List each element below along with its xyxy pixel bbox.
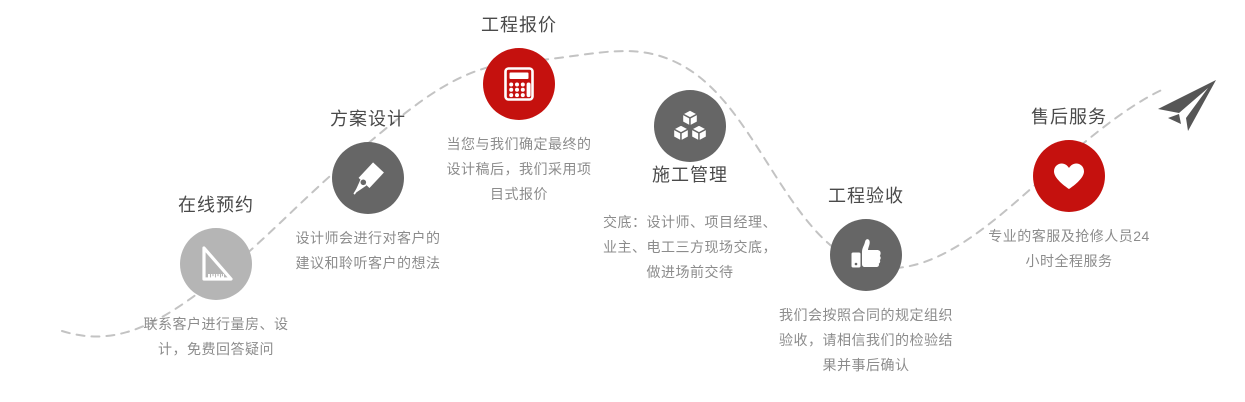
set-square-ruler-icon: [195, 243, 237, 285]
step-5-title: 工程验收: [776, 183, 956, 209]
step-2-icon-circle[interactable]: [332, 142, 404, 214]
thumbs-up-icon: [845, 234, 887, 276]
step-3-description: 当您与我们确定最终的设计稿后，我们采用项目式报价: [445, 132, 593, 207]
process-step-4[interactable]: 施工管理 交底：设计师、项目经理、业主、电工三方现场交底，做进场前交待: [600, 90, 780, 285]
step-4-title: 施工管理: [600, 162, 780, 188]
step-6-title: 售后服务: [986, 104, 1152, 130]
step-1-description: 联系客户进行量房、设计，免费回答疑问: [138, 312, 294, 362]
step-6-icon-circle[interactable]: [1033, 140, 1105, 212]
calculator-icon: [498, 63, 540, 105]
process-flow-infographic: 在线预约 联系客户进行量房、设计，免费回答疑问 方案设计: [0, 0, 1245, 402]
paper-plane-icon: [1148, 78, 1220, 134]
step-5-icon-circle[interactable]: [830, 219, 902, 291]
step-4-icon-circle[interactable]: [654, 90, 726, 162]
stacked-boxes-icon: [669, 105, 711, 147]
step-6-description: 专业的客服及抢修人员24小时全程服务: [986, 224, 1152, 274]
step-1-title: 在线预约: [138, 192, 294, 218]
process-step-2[interactable]: 方案设计 设计师会进行对客户的建议和聆听客户的想法: [292, 106, 444, 276]
process-step-3[interactable]: 工程报价 当您与我们确定最终的设计稿后，我们采用项目: [445, 12, 593, 207]
fountain-pen-nib-icon: [347, 157, 389, 199]
process-step-5[interactable]: 工程验收 我们会按照合同的规定组织验收，请相信我们的检验结果并事后确认: [776, 183, 956, 378]
step-2-description: 设计师会进行对客户的建议和聆听客户的想法: [292, 226, 444, 276]
step-4-stack: 施工管理 交底：设计师、项目经理、业主、电工三方现场交底，做进场前交待: [600, 90, 780, 285]
step-1-icon-circle[interactable]: [180, 228, 252, 300]
step-4-description: 交底：设计师、项目经理、业主、电工三方现场交底，做进场前交待: [600, 210, 780, 285]
heart-icon: [1048, 155, 1090, 197]
process-step-6[interactable]: 售后服务 专业的客服及抢修人员24小时全程服务: [986, 104, 1152, 274]
step-5-description: 我们会按照合同的规定组织验收，请相信我们的检验结果并事后确认: [776, 303, 956, 378]
step-2-title: 方案设计: [292, 106, 444, 132]
step-3-icon-circle[interactable]: [483, 48, 555, 120]
process-step-1[interactable]: 在线预约 联系客户进行量房、设计，免费回答疑问: [138, 192, 294, 362]
step-3-title: 工程报价: [445, 12, 593, 38]
